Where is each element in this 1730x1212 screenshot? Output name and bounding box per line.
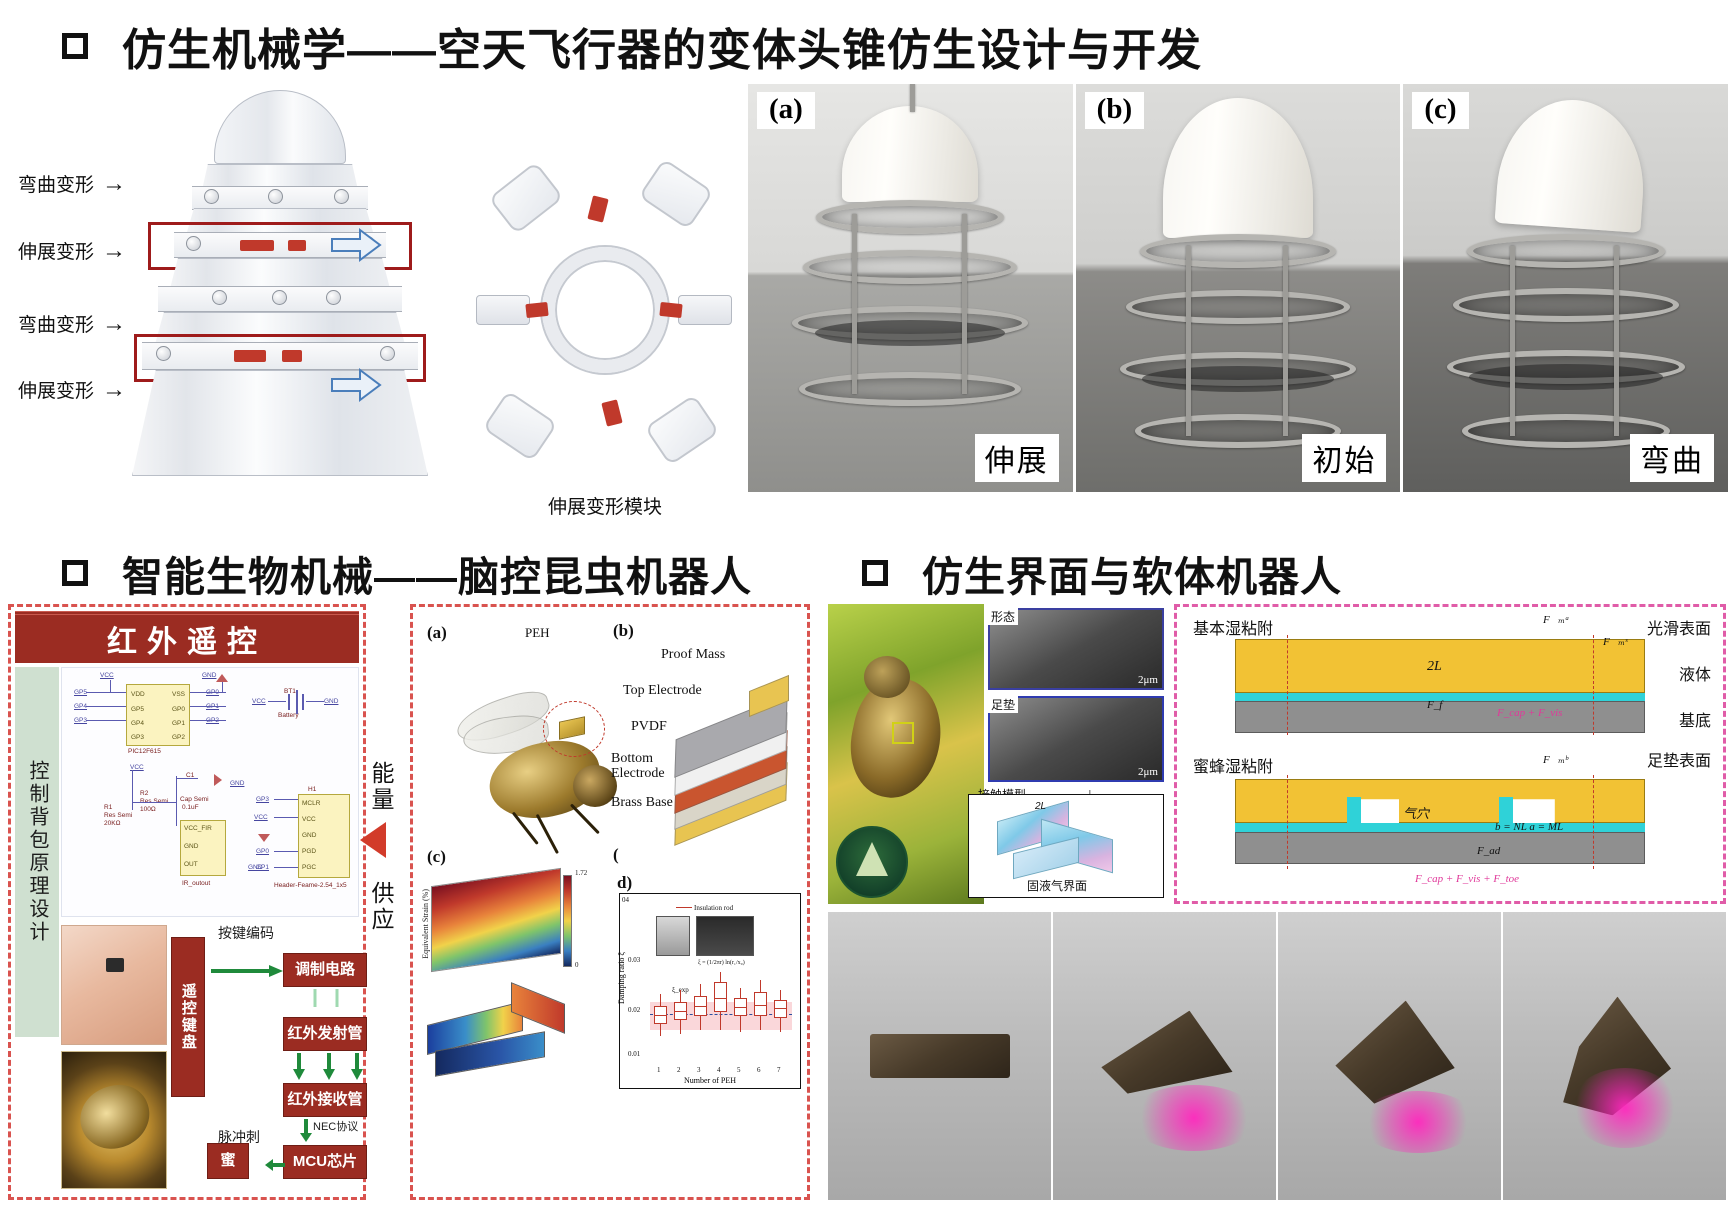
- chart-y-axis-label: Damping ratio ξ: [617, 952, 626, 1004]
- flow-node-ir-receiver: 红外接收管: [283, 1083, 367, 1117]
- flow-arrow-right-icon: [211, 965, 283, 981]
- header-name: Header-Feame-2.54_1x5: [274, 882, 347, 889]
- peh-tag-a: (a): [427, 623, 447, 643]
- box-median: [714, 998, 727, 999]
- laser-glow: [1570, 1068, 1680, 1148]
- sem-caption-morphology: 形态: [988, 608, 1018, 625]
- force-symbol-fma: F⃗ₘᵃ: [1543, 613, 1569, 626]
- gnd-symbol-icon: [258, 834, 270, 842]
- chart-xtick-5: 5: [737, 1066, 741, 1074]
- chip-pin-vdd: VDD: [131, 691, 145, 698]
- stack-label-bottom-electrode: Bottom Electrode: [611, 751, 677, 781]
- box-7: [774, 1000, 787, 1018]
- strain-colorbar: [563, 875, 572, 967]
- support-rod: [910, 84, 915, 112]
- square-bullet-icon: [862, 560, 888, 586]
- power-symbol-icon: [216, 674, 228, 682]
- prototype-photo-b: (b) 初始: [1076, 84, 1401, 492]
- chip-pin-gp4: GP4: [131, 720, 144, 727]
- flow-node-ir-emitter: 红外发射管: [283, 1017, 367, 1051]
- box-median: [774, 1008, 787, 1009]
- contact-model-diagram: 2L 固液气界面: [968, 794, 1164, 898]
- arrow-right-icon: →: [102, 172, 126, 196]
- chip-pin-vss: VSS: [172, 691, 185, 698]
- transform-arrow-lower-icon: [330, 368, 382, 402]
- colorbar-min-value: 0: [575, 961, 579, 969]
- wire: [86, 692, 126, 693]
- r1-name: Res Semi: [104, 812, 132, 819]
- reference-line: [1593, 775, 1594, 869]
- backpack-chip: [106, 958, 124, 972]
- reference-line: [1593, 635, 1594, 735]
- chart-xtick-4: 4: [717, 1066, 721, 1074]
- chart-xtick-2: 2: [677, 1066, 681, 1074]
- contact-symbol-2l: 2L: [1035, 801, 1046, 812]
- box-median: [754, 1005, 767, 1006]
- chart-reference-line: [650, 1014, 792, 1015]
- bee-leg: [536, 814, 559, 854]
- chart-xtick-3: 3: [697, 1066, 701, 1074]
- adhesion-label-footpad-surface: 足垫表面: [1647, 747, 1711, 771]
- wire: [190, 706, 226, 707]
- battery-plate-icon: [288, 694, 290, 710]
- wire: [86, 706, 126, 707]
- chart-legend-swatch: [676, 907, 692, 908]
- actuation-frame-1: [828, 912, 1051, 1200]
- deformation-label-3-text: 弯曲变形: [18, 310, 94, 337]
- wire: [190, 720, 226, 721]
- side-label-supply: 供应: [366, 880, 400, 932]
- structural-ring: [1467, 234, 1665, 268]
- deformation-label-1: 弯曲变形 →: [18, 170, 126, 197]
- laser-glow: [1358, 1091, 1478, 1153]
- ir-panel-title: 红外遥控: [15, 611, 359, 663]
- ir-block-name: IR_outout: [182, 880, 210, 887]
- wire: [86, 720, 126, 721]
- module-actuator-left: [525, 302, 548, 318]
- structural-ring: [803, 250, 1017, 284]
- section-heading-left-text: 智能生物机械——脑控昆虫机器人: [122, 543, 752, 603]
- structural-ring: [1453, 288, 1679, 322]
- chart-ytick-0.02: 0.02: [628, 1006, 640, 1014]
- net-gnd-mid: GND: [230, 780, 244, 787]
- c1-value: 0.1uF: [182, 804, 199, 811]
- peh-tag-b: (b): [613, 621, 634, 641]
- module-caption: 伸展变形模块: [470, 492, 740, 519]
- expansion-module-exploded-view: [470, 135, 740, 495]
- programming-header-block: MCLR VCC GND PGD PGC: [298, 794, 350, 878]
- chart-xtick-1: 1: [657, 1066, 661, 1074]
- net-gnd-top: GND: [202, 672, 216, 679]
- vertical-strut: [962, 214, 967, 394]
- deformation-label-4: 伸展变形 →: [18, 376, 126, 403]
- joint-dot: [268, 189, 283, 204]
- vertical-strut: [1614, 246, 1619, 436]
- header-ref: H1: [308, 786, 316, 793]
- circuit-schematic: VDD GP5 GP4 GP3 VSS GP0 GP1 GP2 PIC12F61…: [61, 667, 359, 917]
- header-pin-pgd: PGD: [302, 848, 316, 855]
- interface-label: 固液气界面: [1027, 877, 1087, 894]
- sem-scale-bar-1: 2μm: [1138, 674, 1158, 686]
- wire: [268, 701, 286, 702]
- module-claw-br: [644, 394, 719, 466]
- box-median: [694, 1006, 707, 1007]
- adhesion-label-smooth-surface: 光滑表面: [1647, 615, 1711, 639]
- flow-node-modulation: 调制电路: [283, 953, 367, 987]
- adhesion-title-bee: 蜜蜂湿粘附: [1193, 753, 1273, 777]
- prototype-photo-c: (c) 弯曲: [1403, 84, 1728, 492]
- chart-xtick-7: 7: [777, 1066, 781, 1074]
- structural-ring: [1126, 290, 1350, 324]
- header-net-gp3: GP3: [256, 796, 269, 803]
- ir-vertical-label: 控制背包原理设计: [15, 667, 59, 1037]
- bee-closeup-photo: [61, 1051, 167, 1189]
- header-net-vcc: VCC: [254, 814, 268, 821]
- deformation-label-2-text: 伸展变形: [18, 237, 94, 264]
- chart-legend-label: Insulation rod: [694, 904, 733, 912]
- ring-shadow: [1469, 364, 1663, 390]
- adhesion-label-liquid: 液体: [1679, 661, 1711, 685]
- bee-with-peh-illustration: [437, 669, 637, 849]
- adhesion-label-air-cavity: 气穴: [1403, 803, 1429, 822]
- r1-value: 20KΩ: [104, 820, 120, 827]
- formula-b-a: b = NL a = ML: [1495, 821, 1563, 833]
- ring-shadow: [815, 320, 1005, 346]
- side-label-energy: 能量: [366, 760, 400, 812]
- chart-x-axis-label: Number of PEH: [620, 1076, 800, 1085]
- module-claw-tl: [488, 161, 564, 234]
- square-bullet-icon: [62, 33, 88, 59]
- module-arm-right: [678, 295, 732, 325]
- header-net-gp0: GP0: [256, 848, 269, 855]
- battery-net-gnd: GND: [324, 698, 338, 705]
- ir-output-block: VCC_FIR GND OUT: [180, 820, 226, 876]
- header-pin-vcc: VCC: [302, 816, 316, 823]
- ir-panel-body: 控制背包原理设计 VDD GP5 GP4 GP3 VSS GP0 GP1 GP2…: [15, 663, 359, 1193]
- wire: [274, 851, 298, 852]
- box-median: [734, 1007, 747, 1008]
- chart-inset-photo-2: [696, 916, 754, 956]
- ring-shadow: [1142, 366, 1334, 392]
- chart-ytick-0.01: 0.01: [628, 1050, 640, 1058]
- bee-sem-panel: 2μm 形态 2μm 足垫 接触模型 ↓ 2L 固液气界面: [828, 604, 1168, 904]
- module-claw-bl: [482, 390, 557, 462]
- reference-line: [1287, 635, 1288, 735]
- wire: [132, 770, 133, 810]
- stack-label-proof-mass: Proof Mass: [661, 647, 725, 663]
- wire: [274, 867, 298, 868]
- r1-ref: R1: [104, 804, 112, 811]
- colorbar-axis-label: Equivalent Strain (%): [421, 889, 430, 959]
- force-symbol-fms: F⃗ₘˢ: [1603, 635, 1627, 648]
- liquid-film-bee: [1235, 823, 1645, 832]
- deformation-label-2: 伸展变形 →: [18, 237, 126, 264]
- flow-node-mcu: MCU芯片: [283, 1145, 367, 1179]
- battery-plate-icon: [302, 694, 304, 710]
- module-center-ring: [542, 247, 668, 373]
- deformed-beam-3d-model: [427, 979, 607, 1089]
- cone-skirt: [132, 370, 428, 476]
- peh-label: PEH: [525, 625, 550, 641]
- vertical-strut: [1186, 246, 1191, 436]
- sem-roi-box: [892, 722, 914, 744]
- c1-name: Cap Semi: [180, 796, 209, 803]
- photo-tag-b: (b): [1085, 92, 1144, 129]
- ir-pin-gnd: GND: [184, 843, 198, 850]
- ir-pin-out: OUT: [184, 861, 198, 868]
- deformation-label-4-text: 伸展变形: [18, 376, 94, 403]
- force-symbol-ff: F_f: [1427, 699, 1442, 711]
- ir-pin-vccfir: VCC_FIR: [184, 825, 212, 832]
- photo-tag-a: (a): [757, 92, 815, 129]
- battery-plate-icon: [296, 690, 298, 714]
- deformation-label-3: 弯曲变形 →: [18, 310, 126, 337]
- net-gnd-bottom: GND: [248, 864, 262, 871]
- gnd-symbol-icon: [214, 774, 222, 786]
- prototype-photo-a: (a) 伸展: [748, 84, 1073, 492]
- chart-top-label: 04: [622, 896, 629, 904]
- force-symbol-fmb: F⃗ₘᵇ: [1543, 753, 1568, 766]
- wire: [190, 692, 226, 693]
- symbol-2l-basic: 2L: [1427, 659, 1442, 675]
- reference-line: [1287, 775, 1288, 869]
- joint-dot: [212, 290, 227, 305]
- chip-pin-gp0: GP0: [172, 706, 185, 713]
- photo-caption-a: 伸展: [975, 434, 1059, 482]
- photo-tag-c: (c): [1412, 92, 1468, 129]
- module-actuator-right: [659, 302, 682, 318]
- main-heading-text: 仿生机械学——空天飞行器的变体头锥仿生设计与开发: [122, 14, 1202, 78]
- structural-ring: [816, 200, 1004, 234]
- adhesion-label-substrate: 基底: [1679, 707, 1711, 731]
- fem-strain-heatmap: [431, 868, 561, 972]
- ir-remote-panel: 红外遥控 控制背包原理设计 VDD GP5 GP4 GP3 VSS GP0 GP…: [8, 604, 366, 1200]
- colorbar-max-value: 1.72: [575, 869, 587, 877]
- section-heading-brain-controlled-insect: 智能生物机械——脑控昆虫机器人: [62, 543, 752, 603]
- arrow-right-icon: →: [102, 239, 126, 263]
- box-4: [714, 982, 727, 1012]
- transform-arrow-upper-icon: [330, 228, 382, 262]
- adhesion-title-basic: 基本湿粘附: [1193, 615, 1273, 639]
- mcu-part-number: PIC12F615: [128, 748, 161, 755]
- photo-caption-c: 弯曲: [1630, 434, 1714, 482]
- energy-supply-arrow-icon: [360, 822, 386, 858]
- module-actuator-top: [587, 195, 608, 222]
- battery-net-vcc: VCC: [252, 698, 266, 705]
- mcu-chip-body: VDD GP5 GP4 GP3 VSS GP0 GP1 GP2: [126, 684, 190, 746]
- adhesion-pad-bee: [1235, 779, 1645, 823]
- wire: [176, 776, 177, 826]
- section-heading-bioinspired-interface: 仿生界面与软体机器人: [862, 543, 1342, 603]
- chart-formula: ξ = (1/2πr) ln(r₁/x₀): [698, 960, 745, 966]
- flow-node-bee-target: 蜜: [207, 1143, 249, 1179]
- wet-adhesion-panel: 基本湿粘附 光滑表面 2L F⃗ₘᵃ F⃗ₘˢ F_f F_cap + F_vi…: [1174, 604, 1726, 904]
- flow-arrow-down-icon: [311, 989, 343, 1019]
- section-heading-right-text: 仿生界面与软体机器人: [922, 543, 1342, 603]
- wire: [110, 680, 111, 692]
- flow-edge-label-encode: 按键编码: [211, 925, 281, 941]
- flow-arrow-down-icon: [299, 1119, 313, 1147]
- substrate-bee: [1235, 832, 1645, 864]
- wire: [132, 802, 176, 803]
- sem-caption-footpad: 足垫: [988, 696, 1018, 713]
- chart-inset-photo-1: [656, 916, 690, 956]
- box-median: [674, 1011, 687, 1012]
- vertical-strut: [1510, 246, 1515, 436]
- vertical-strut: [1283, 246, 1288, 436]
- joint-dot: [334, 189, 349, 204]
- chip-pin-gp2: GP2: [172, 734, 185, 741]
- nosecone-cad-drawing: [130, 90, 430, 490]
- actuation-frame-4: [1503, 912, 1726, 1200]
- liquid-groove-1: [1347, 797, 1361, 827]
- stack-label-top-electrode: Top Electrode: [623, 683, 702, 699]
- chip-pin-gp1: GP1: [172, 720, 185, 727]
- chart-ytick-0.03: 0.03: [628, 956, 640, 964]
- wire: [176, 778, 198, 779]
- laser-glow: [1129, 1085, 1259, 1151]
- soft-film-sample: [1096, 1007, 1233, 1096]
- joint-dot: [272, 290, 287, 305]
- wire: [306, 701, 324, 702]
- main-heading: 仿生机械学——空天飞行器的变体头锥仿生设计与开发: [62, 14, 1202, 78]
- header-pin-mclr: MCLR: [302, 800, 320, 807]
- peh-tag-d: d): [617, 873, 632, 893]
- actuation-frame-2: [1053, 912, 1276, 1200]
- structural-ring: [799, 372, 1021, 406]
- flow-arrow-down-multi-icon: [291, 1053, 367, 1085]
- box-median: [654, 1015, 667, 1016]
- nosecone-schematic-figure: 弯曲变形 → 伸展变形 → 弯曲变形 → 伸展变形 →: [0, 80, 745, 500]
- ir-control-flowchart: 遥控键盘 按键编码 调制电路 红外发射管 红外接收管 NEC协议: [171, 921, 371, 1193]
- cone-cap: [214, 90, 346, 164]
- box-6: [754, 992, 767, 1016]
- net-vcc-top: VCC: [100, 672, 114, 679]
- arrow-right-icon: →: [102, 378, 126, 402]
- square-bullet-icon: [62, 560, 88, 586]
- flow-node-keypad: 遥控键盘: [171, 937, 205, 1097]
- force-symbol-total: F_cap + F_vis + F_toe: [1415, 873, 1519, 885]
- stack-label-pvdf: PVDF: [631, 719, 667, 735]
- photo-caption-b: 初始: [1302, 434, 1386, 482]
- module-arm-left: [476, 295, 530, 325]
- module-claw-tr: [638, 158, 713, 230]
- vertical-strut: [852, 214, 857, 394]
- r2-value: 100Ω: [140, 806, 156, 813]
- header-pin-pgc: PGC: [302, 864, 316, 871]
- chip-pin-gp5: GP5: [131, 706, 144, 713]
- damping-ratio-boxplot: 04 Damping ratio ξ Number of PEH Insulat…: [619, 893, 801, 1089]
- chip-pin-gp3: GP3: [131, 734, 144, 741]
- soft-film-sample: [870, 1034, 1010, 1078]
- bee-leg: [570, 803, 600, 834]
- flow-arrow-left-icon: [265, 1159, 285, 1175]
- chart-xtick-6: 6: [757, 1066, 761, 1074]
- r2-ref: R2: [140, 790, 148, 797]
- wire: [274, 799, 298, 800]
- institute-logo: [836, 826, 908, 898]
- peh-tag-c: (c): [427, 847, 446, 867]
- joint-dot: [326, 290, 341, 305]
- header-pin-gnd: GND: [302, 832, 316, 839]
- arrow-right-icon: →: [102, 312, 126, 336]
- piezoelectric-harvester-panel: (a) (b) (c) ( d) PEH Proof Mass Top Elec…: [410, 604, 810, 1200]
- bee-head: [864, 656, 910, 698]
- wire: [274, 817, 298, 818]
- deformation-label-1-text: 弯曲变形: [18, 170, 94, 197]
- force-symbol-fcap-fvis: F_cap + F_vis: [1497, 707, 1562, 719]
- joint-dot: [204, 189, 219, 204]
- actuation-frame-3: [1278, 912, 1501, 1200]
- soft-robot-actuation-photo-strip: [828, 912, 1726, 1200]
- module-actuator-bottom: [601, 399, 622, 426]
- structural-ring: [1140, 234, 1336, 268]
- prototype-photo-row: (a) 伸展 (b) 初始 (c) 弯曲: [748, 84, 1728, 492]
- flow-label-nec-protocol: NEC协议: [313, 1119, 371, 1135]
- stack-label-brass-base: Brass Base: [611, 795, 673, 811]
- sem-scale-bar-2: 2μm: [1138, 766, 1158, 778]
- force-symbol-fad: F_ad: [1477, 845, 1500, 857]
- finger-with-backpack-photo: [61, 925, 167, 1045]
